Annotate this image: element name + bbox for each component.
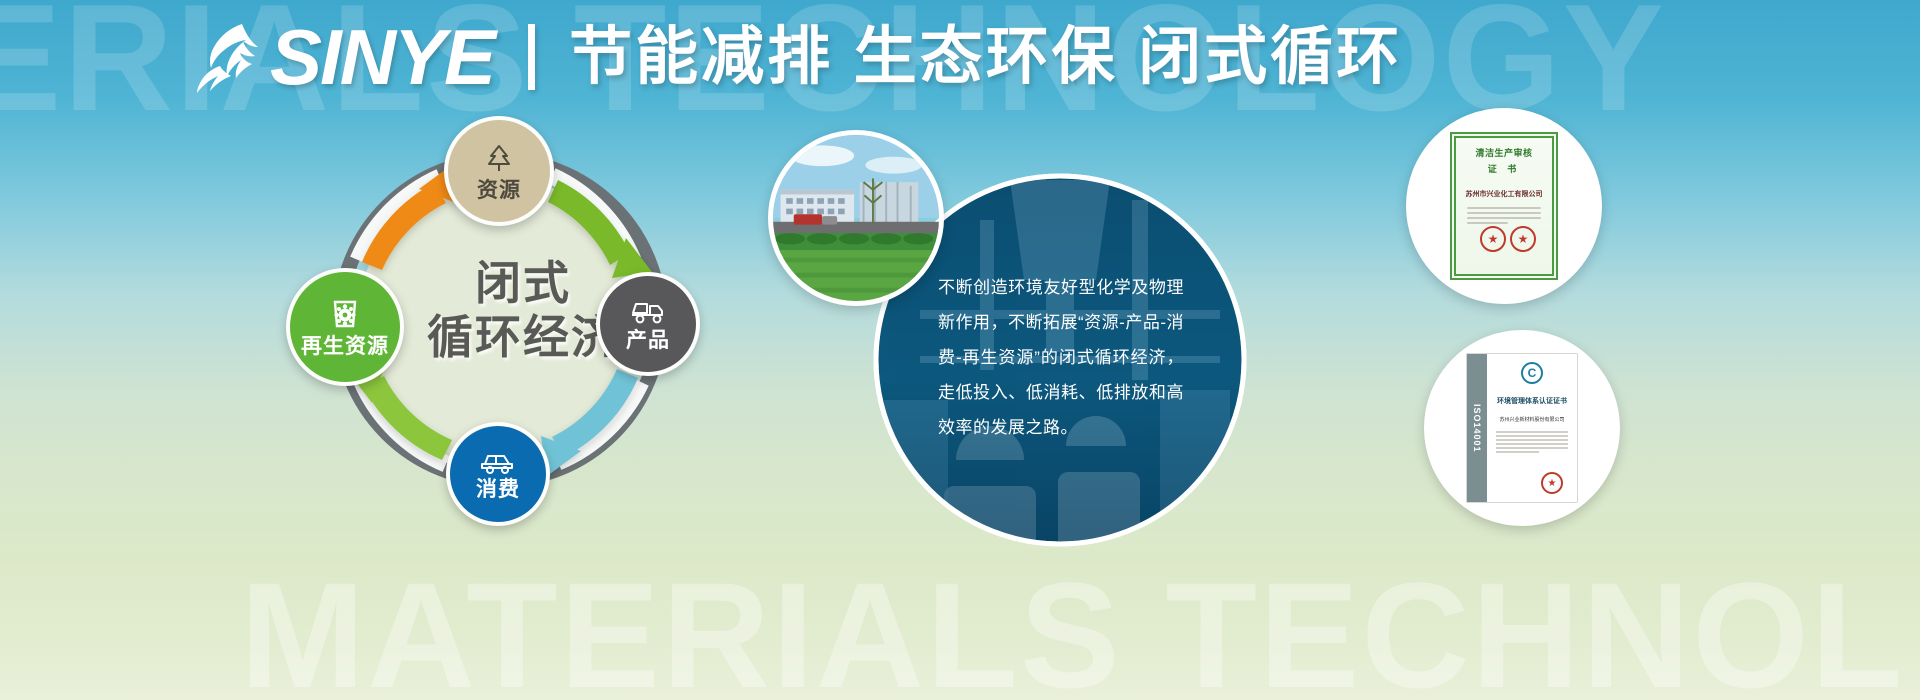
cert-bottom-body-lines (1496, 431, 1568, 455)
factory-campus-photo (768, 130, 944, 306)
bubble-paragraph: 不断创造环境友好型化学及物理新作用，不断拓展“资源-产品-消费-再生资源”的闭式… (938, 270, 1184, 445)
cert-bottom-title: 环境管理体系认证证书 (1497, 396, 1567, 406)
certification-seal-icon: C (1521, 362, 1543, 384)
diagram-node-renew[interactable]: 再生资源 (286, 268, 404, 386)
car-icon (479, 449, 517, 475)
official-stamp-icon: ★ (1510, 226, 1536, 252)
header-divider (528, 24, 535, 90)
diagram-node-product[interactable]: 产品 (596, 272, 700, 376)
cert-top-company: 苏州市兴业化工有限公司 (1466, 189, 1543, 199)
banner-header: SINYE 节能减排 生态环保 闭式循环 (190, 18, 1402, 96)
iso14001-environmental-certificate: ISO14001 C 环境管理体系认证证书 苏州兴业新材料股份有限公司 ★ (1424, 330, 1620, 526)
brand-wordmark: SINYE (270, 18, 494, 96)
node-label-resource: 资源 (477, 180, 521, 201)
recycle-gear-icon (327, 298, 363, 332)
header-slogan: 节能减排 生态环保 闭式循环 (569, 26, 1402, 89)
cert-bottom-company: 苏州兴业新材料股份有限公司 (1499, 416, 1564, 423)
diagram-node-consume[interactable]: 消费 (446, 422, 550, 526)
iso-spine-label: ISO14001 (1467, 354, 1487, 502)
cert-top-title: 清洁生产审核 (1475, 146, 1532, 159)
diagram-center-title: 闭式 循环经济 (418, 256, 628, 365)
node-label-renew: 再生资源 (301, 336, 389, 357)
diagram-node-resource[interactable]: 资源 (444, 116, 554, 226)
cert-top-body-lines (1467, 207, 1542, 227)
node-label-product: 产品 (626, 330, 670, 351)
tree-icon (482, 142, 516, 176)
clean-production-audit-certificate: 清洁生产审核 证 书 苏州市兴业化工有限公司 ★ ★ (1406, 108, 1602, 304)
dump-truck-icon (630, 298, 666, 326)
watermark-bottom-text: MATERIALS TECHNOL (240, 560, 1904, 700)
official-stamp-icon: ★ (1541, 472, 1563, 494)
official-stamp-icon: ★ (1480, 226, 1506, 252)
node-label-consume: 消费 (476, 479, 520, 500)
closed-loop-diagram: 闭式 循环经济 资源 (300, 120, 700, 520)
cert-top-subtitle: 证 书 (1488, 162, 1521, 175)
leaf-swirl-icon (190, 20, 270, 94)
center-title-line-1: 闭式 (418, 256, 628, 310)
banner-stage: ERIALS TECHNOLOGY MATERIALS TECHNOL SINY… (0, 0, 1920, 700)
